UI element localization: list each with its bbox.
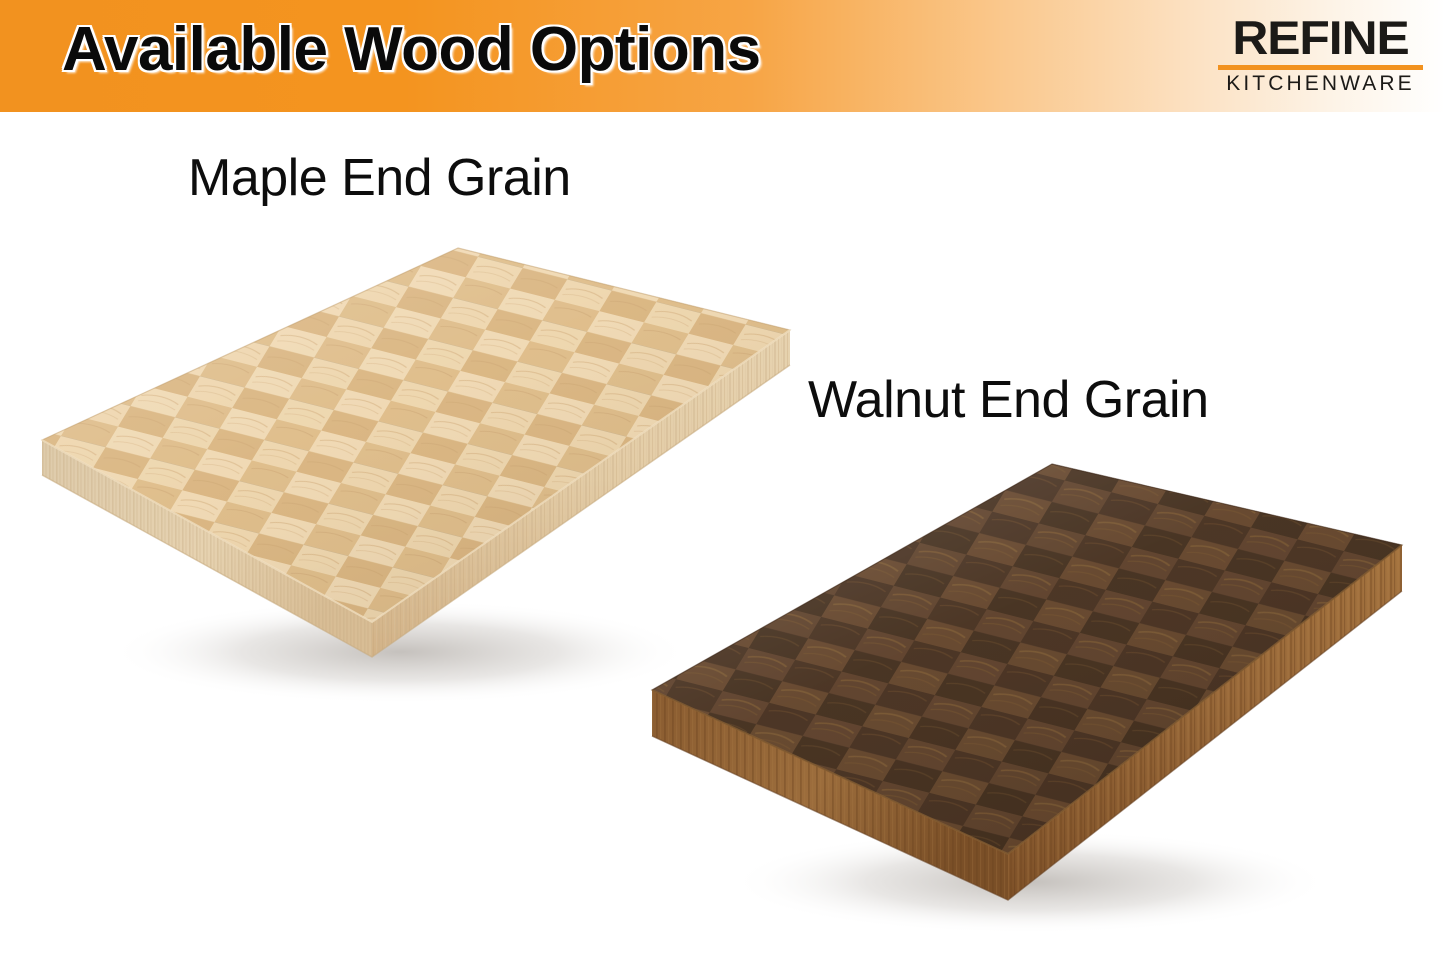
walnut-board-illustration [600, 432, 1445, 934]
brand-logo: REFINE KITCHENWARE [1218, 16, 1423, 95]
brand-logo-divider [1218, 65, 1423, 70]
product-image-stage: Maple End Grain Walnut End Grain [0, 112, 1445, 963]
header-banner: Available Wood Options REFINE KITCHENWAR… [0, 0, 1445, 112]
boards-illustration [0, 112, 1445, 963]
product-label-walnut: Walnut End Grain [808, 370, 1208, 430]
product-label-maple: Maple End Grain [188, 148, 571, 208]
page-title: Available Wood Options [62, 14, 761, 85]
brand-logo-primary-text: REFINE [1212, 16, 1429, 61]
brand-logo-secondary-text: KITCHENWARE [1218, 73, 1423, 95]
